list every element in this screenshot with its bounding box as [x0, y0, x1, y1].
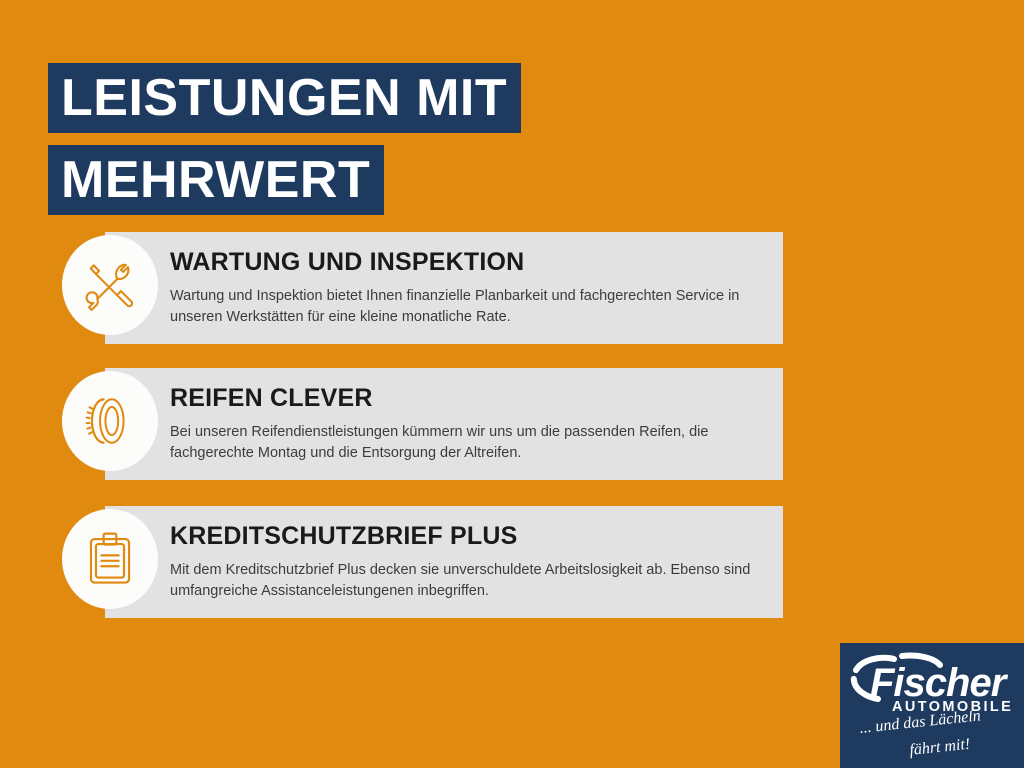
service-card-kreditschutzbrief-plus[interactable]: KREDITSCHUTZBRIEF PLUS Mit dem Kreditsch…: [105, 506, 783, 618]
title-line-2-wrap: MEHRWERT: [48, 145, 748, 215]
wrench-screwdriver-icon: [62, 235, 158, 335]
title-line-2: MEHRWERT: [48, 145, 384, 215]
page-title: LEISTUNGEN MIT MEHRWERT: [48, 63, 748, 215]
clipboard-icon: [62, 509, 158, 609]
tire-icon: [62, 371, 158, 471]
service-card-wartung-und-inspektion[interactable]: WARTUNG UND INSPEKTION Wartung und Inspe…: [105, 232, 783, 344]
title-line-1: LEISTUNGEN MIT: [48, 63, 521, 133]
title-line-1-wrap: LEISTUNGEN MIT: [48, 63, 748, 133]
logo-tagline: ... und das Lächeln fährt mit!: [858, 711, 1018, 763]
fischer-automobile-logo[interactable]: Fischer AUTOMOBILE ... und das Lächeln f…: [840, 643, 1024, 768]
svg-text:fährt mit!: fährt mit!: [909, 736, 971, 759]
card-body: Wartung und Inspektion bietet Ihnen fina…: [170, 286, 763, 330]
card-heading: WARTUNG UND INSPEKTION: [170, 249, 763, 277]
service-card-reifen-clever[interactable]: REIFEN CLEVER Bei unseren Reifendienstle…: [105, 368, 783, 480]
card-body: Mit dem Kreditschutzbrief Plus decken si…: [170, 560, 763, 604]
logo-wordmark: Fischer AUTOMOBILE: [848, 649, 1020, 715]
card-heading: REIFEN CLEVER: [170, 385, 763, 413]
card-body: Bei unseren Reifendienstleistungen kümme…: [170, 422, 763, 466]
svg-text:... und das Lächeln: ... und das Lächeln: [859, 711, 982, 737]
card-heading: KREDITSCHUTZBRIEF PLUS: [170, 523, 763, 551]
